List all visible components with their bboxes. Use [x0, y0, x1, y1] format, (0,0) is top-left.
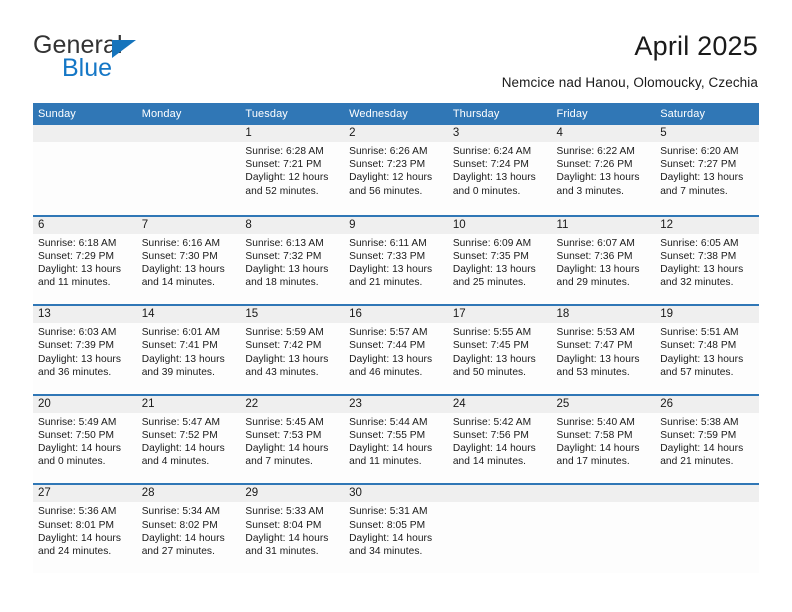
- daylight-text: Daylight: 13 hours and 14 minutes.: [142, 263, 236, 289]
- weekday-header-wednesday: Wednesday: [344, 103, 448, 125]
- sunrise-text: Sunrise: 5:38 AM: [660, 416, 754, 429]
- day-sun-info: Sunrise: 6:07 AMSunset: 7:36 PMDaylight:…: [552, 234, 656, 290]
- day-number-band: [448, 485, 552, 502]
- calendar-day-cell[interactable]: 14Sunrise: 6:01 AMSunset: 7:41 PMDayligh…: [137, 306, 241, 394]
- day-number: 23: [344, 396, 448, 413]
- day-sun-info: Sunrise: 6:16 AMSunset: 7:30 PMDaylight:…: [137, 234, 241, 290]
- sunrise-text: Sunrise: 5:42 AM: [453, 416, 547, 429]
- sunrise-text: Sunrise: 6:05 AM: [660, 237, 754, 250]
- day-number-band: 18: [552, 306, 656, 323]
- sunset-text: Sunset: 8:02 PM: [142, 519, 236, 532]
- weekday-header-saturday: Saturday: [655, 103, 759, 125]
- calendar-day-cell[interactable]: 17Sunrise: 5:55 AMSunset: 7:45 PMDayligh…: [448, 306, 552, 394]
- daylight-text: Daylight: 14 hours and 24 minutes.: [38, 532, 132, 558]
- daylight-text: Daylight: 14 hours and 27 minutes.: [142, 532, 236, 558]
- sunset-text: Sunset: 7:55 PM: [349, 429, 443, 442]
- day-sun-info: Sunrise: 5:42 AMSunset: 7:56 PMDaylight:…: [448, 413, 552, 469]
- day-sun-info: Sunrise: 6:28 AMSunset: 7:21 PMDaylight:…: [240, 142, 344, 198]
- calendar-page: General Blue April 2025 Nemcice nad Hano…: [0, 0, 792, 612]
- weekday-header-row: Sunday Monday Tuesday Wednesday Thursday…: [33, 103, 759, 125]
- day-sun-info: Sunrise: 5:34 AMSunset: 8:02 PMDaylight:…: [137, 502, 241, 558]
- page-title: April 2025: [502, 30, 758, 62]
- day-sun-info: Sunrise: 5:31 AMSunset: 8:05 PMDaylight:…: [344, 502, 448, 558]
- day-number: 13: [33, 306, 137, 323]
- daylight-text: Daylight: 14 hours and 14 minutes.: [453, 442, 547, 468]
- day-number-band: 7: [137, 217, 241, 234]
- daylight-text: Daylight: 14 hours and 31 minutes.: [245, 532, 339, 558]
- sunrise-text: Sunrise: 6:28 AM: [245, 145, 339, 158]
- day-number: 19: [655, 306, 759, 323]
- daylight-text: Daylight: 14 hours and 34 minutes.: [349, 532, 443, 558]
- weekday-header-tuesday: Tuesday: [240, 103, 344, 125]
- calendar-day-cell[interactable]: 8Sunrise: 6:13 AMSunset: 7:32 PMDaylight…: [240, 217, 344, 305]
- day-number-band: 8: [240, 217, 344, 234]
- day-number-band: 30: [344, 485, 448, 502]
- day-sun-info: Sunrise: 6:13 AMSunset: 7:32 PMDaylight:…: [240, 234, 344, 290]
- sunrise-text: Sunrise: 6:18 AM: [38, 237, 132, 250]
- general-blue-logo[interactable]: General Blue: [33, 32, 263, 84]
- daylight-text: Daylight: 14 hours and 21 minutes.: [660, 442, 754, 468]
- title-block: April 2025 Nemcice nad Hanou, Olomoucky,…: [502, 30, 758, 92]
- daylight-text: Daylight: 14 hours and 7 minutes.: [245, 442, 339, 468]
- sunrise-text: Sunrise: 6:22 AM: [557, 145, 651, 158]
- sunrise-text: Sunrise: 5:53 AM: [557, 326, 651, 339]
- day-sun-info: Sunrise: 6:01 AMSunset: 7:41 PMDaylight:…: [137, 323, 241, 379]
- day-number: 29: [240, 485, 344, 502]
- day-number: 17: [448, 306, 552, 323]
- sunrise-text: Sunrise: 6:09 AM: [453, 237, 547, 250]
- calendar-day-cell[interactable]: 7Sunrise: 6:16 AMSunset: 7:30 PMDaylight…: [137, 217, 241, 305]
- daylight-text: Daylight: 14 hours and 17 minutes.: [557, 442, 651, 468]
- day-number-band: 1: [240, 125, 344, 142]
- daylight-text: Daylight: 13 hours and 43 minutes.: [245, 353, 339, 379]
- calendar-day-cell[interactable]: 30Sunrise: 5:31 AMSunset: 8:05 PMDayligh…: [344, 485, 448, 573]
- daylight-text: Daylight: 13 hours and 50 minutes.: [453, 353, 547, 379]
- day-number: 15: [240, 306, 344, 323]
- sunset-text: Sunset: 7:38 PM: [660, 250, 754, 263]
- day-number-band: 26: [655, 396, 759, 413]
- day-number: 2: [344, 125, 448, 142]
- calendar-day-cell[interactable]: 25Sunrise: 5:40 AMSunset: 7:58 PMDayligh…: [552, 396, 656, 484]
- day-number-band: 2: [344, 125, 448, 142]
- day-number: 4: [552, 125, 656, 142]
- daylight-text: Daylight: 13 hours and 39 minutes.: [142, 353, 236, 379]
- daylight-text: Daylight: 13 hours and 53 minutes.: [557, 353, 651, 379]
- triangle-flag-icon: [112, 40, 136, 58]
- day-number-band: 13: [33, 306, 137, 323]
- day-number: 30: [344, 485, 448, 502]
- calendar-weeks: 1Sunrise: 6:28 AMSunset: 7:21 PMDaylight…: [33, 125, 759, 573]
- daylight-text: Daylight: 12 hours and 52 minutes.: [245, 171, 339, 197]
- weekday-header-thursday: Thursday: [448, 103, 552, 125]
- day-number: 5: [655, 125, 759, 142]
- day-number: 3: [448, 125, 552, 142]
- sunrise-text: Sunrise: 5:31 AM: [349, 505, 443, 518]
- day-number: 12: [655, 217, 759, 234]
- day-number-band: 23: [344, 396, 448, 413]
- sunset-text: Sunset: 7:56 PM: [453, 429, 547, 442]
- daylight-text: Daylight: 14 hours and 11 minutes.: [349, 442, 443, 468]
- day-number: 18: [552, 306, 656, 323]
- calendar-day-cell-empty: [655, 485, 759, 573]
- sunset-text: Sunset: 7:24 PM: [453, 158, 547, 171]
- daylight-text: Daylight: 13 hours and 29 minutes.: [557, 263, 651, 289]
- daylight-text: Daylight: 14 hours and 4 minutes.: [142, 442, 236, 468]
- daylight-text: Daylight: 13 hours and 18 minutes.: [245, 263, 339, 289]
- weekday-header-friday: Friday: [552, 103, 656, 125]
- sunrise-text: Sunrise: 6:16 AM: [142, 237, 236, 250]
- calendar-day-cell[interactable]: 19Sunrise: 5:51 AMSunset: 7:48 PMDayligh…: [655, 306, 759, 394]
- sunrise-text: Sunrise: 6:20 AM: [660, 145, 754, 158]
- day-number: 7: [137, 217, 241, 234]
- sunrise-text: Sunrise: 6:13 AM: [245, 237, 339, 250]
- sunrise-text: Sunrise: 5:36 AM: [38, 505, 132, 518]
- day-number: 22: [240, 396, 344, 413]
- calendar-day-cell-empty: [552, 485, 656, 573]
- calendar-day-cell[interactable]: 18Sunrise: 5:53 AMSunset: 7:47 PMDayligh…: [552, 306, 656, 394]
- calendar-day-cell[interactable]: 2Sunrise: 6:26 AMSunset: 7:23 PMDaylight…: [344, 125, 448, 215]
- calendar-day-cell-empty: [448, 485, 552, 573]
- sunset-text: Sunset: 7:29 PM: [38, 250, 132, 263]
- day-number-band: [33, 125, 137, 142]
- sunset-text: Sunset: 7:45 PM: [453, 339, 547, 352]
- day-number: 11: [552, 217, 656, 234]
- calendar-day-cell-empty: [137, 125, 241, 215]
- day-number-band: 14: [137, 306, 241, 323]
- day-number: 16: [344, 306, 448, 323]
- sunset-text: Sunset: 7:33 PM: [349, 250, 443, 263]
- day-number: 14: [137, 306, 241, 323]
- sunset-text: Sunset: 7:41 PM: [142, 339, 236, 352]
- sunrise-text: Sunrise: 6:03 AM: [38, 326, 132, 339]
- sunset-text: Sunset: 7:21 PM: [245, 158, 339, 171]
- day-sun-info: Sunrise: 6:26 AMSunset: 7:23 PMDaylight:…: [344, 142, 448, 198]
- day-sun-info: Sunrise: 6:05 AMSunset: 7:38 PMDaylight:…: [655, 234, 759, 290]
- calendar-week-row: 27Sunrise: 5:36 AMSunset: 8:01 PMDayligh…: [33, 483, 759, 573]
- sunset-text: Sunset: 7:39 PM: [38, 339, 132, 352]
- daylight-text: Daylight: 13 hours and 46 minutes.: [349, 353, 443, 379]
- daylight-text: Daylight: 13 hours and 25 minutes.: [453, 263, 547, 289]
- calendar-day-cell[interactable]: 29Sunrise: 5:33 AMSunset: 8:04 PMDayligh…: [240, 485, 344, 573]
- sunset-text: Sunset: 8:01 PM: [38, 519, 132, 532]
- sunrise-text: Sunrise: 6:07 AM: [557, 237, 651, 250]
- sunrise-text: Sunrise: 5:55 AM: [453, 326, 547, 339]
- sunset-text: Sunset: 7:53 PM: [245, 429, 339, 442]
- day-number-band: 17: [448, 306, 552, 323]
- calendar-day-cell[interactable]: 22Sunrise: 5:45 AMSunset: 7:53 PMDayligh…: [240, 396, 344, 484]
- calendar-day-cell[interactable]: 23Sunrise: 5:44 AMSunset: 7:55 PMDayligh…: [344, 396, 448, 484]
- weekday-header-monday: Monday: [137, 103, 241, 125]
- location-subtitle: Nemcice nad Hanou, Olomoucky, Czechia: [502, 74, 758, 92]
- daylight-text: Daylight: 13 hours and 0 minutes.: [453, 171, 547, 197]
- sunset-text: Sunset: 7:42 PM: [245, 339, 339, 352]
- day-number: 20: [33, 396, 137, 413]
- day-sun-info: Sunrise: 5:40 AMSunset: 7:58 PMDaylight:…: [552, 413, 656, 469]
- sunset-text: Sunset: 7:44 PM: [349, 339, 443, 352]
- daylight-text: Daylight: 13 hours and 7 minutes.: [660, 171, 754, 197]
- sunset-text: Sunset: 7:47 PM: [557, 339, 651, 352]
- day-number-band: 28: [137, 485, 241, 502]
- sunrise-text: Sunrise: 5:49 AM: [38, 416, 132, 429]
- day-sun-info: Sunrise: 6:03 AMSunset: 7:39 PMDaylight:…: [33, 323, 137, 379]
- day-number-band: [137, 125, 241, 142]
- day-number: 27: [33, 485, 137, 502]
- sunset-text: Sunset: 7:30 PM: [142, 250, 236, 263]
- sunset-text: Sunset: 7:52 PM: [142, 429, 236, 442]
- calendar-day-cell[interactable]: 6Sunrise: 6:18 AMSunset: 7:29 PMDaylight…: [33, 217, 137, 305]
- day-sun-info: Sunrise: 5:51 AMSunset: 7:48 PMDaylight:…: [655, 323, 759, 379]
- sunrise-text: Sunrise: 5:34 AM: [142, 505, 236, 518]
- sunset-text: Sunset: 7:35 PM: [453, 250, 547, 263]
- day-number: 6: [33, 217, 137, 234]
- day-number-band: 24: [448, 396, 552, 413]
- calendar-day-cell[interactable]: 13Sunrise: 6:03 AMSunset: 7:39 PMDayligh…: [33, 306, 137, 394]
- sunset-text: Sunset: 7:48 PM: [660, 339, 754, 352]
- sunrise-text: Sunrise: 5:40 AM: [557, 416, 651, 429]
- day-number: 1: [240, 125, 344, 142]
- day-number: 8: [240, 217, 344, 234]
- day-sun-info: Sunrise: 6:18 AMSunset: 7:29 PMDaylight:…: [33, 234, 137, 290]
- calendar-day-cell[interactable]: 11Sunrise: 6:07 AMSunset: 7:36 PMDayligh…: [552, 217, 656, 305]
- day-sun-info: Sunrise: 6:22 AMSunset: 7:26 PMDaylight:…: [552, 142, 656, 198]
- calendar-day-cell[interactable]: 10Sunrise: 6:09 AMSunset: 7:35 PMDayligh…: [448, 217, 552, 305]
- sunrise-text: Sunrise: 6:24 AM: [453, 145, 547, 158]
- calendar-day-cell[interactable]: 4Sunrise: 6:22 AMSunset: 7:26 PMDaylight…: [552, 125, 656, 215]
- day-sun-info: Sunrise: 6:20 AMSunset: 7:27 PMDaylight:…: [655, 142, 759, 198]
- calendar-day-cell[interactable]: 12Sunrise: 6:05 AMSunset: 7:38 PMDayligh…: [655, 217, 759, 305]
- calendar-day-cell[interactable]: 26Sunrise: 5:38 AMSunset: 7:59 PMDayligh…: [655, 396, 759, 484]
- sunset-text: Sunset: 7:32 PM: [245, 250, 339, 263]
- day-sun-info: Sunrise: 5:59 AMSunset: 7:42 PMDaylight:…: [240, 323, 344, 379]
- sunset-text: Sunset: 8:04 PM: [245, 519, 339, 532]
- sunrise-text: Sunrise: 6:26 AM: [349, 145, 443, 158]
- calendar-week-row: 20Sunrise: 5:49 AMSunset: 7:50 PMDayligh…: [33, 394, 759, 484]
- day-number-band: 15: [240, 306, 344, 323]
- day-number-band: 10: [448, 217, 552, 234]
- sunrise-text: Sunrise: 5:51 AM: [660, 326, 754, 339]
- daylight-text: Daylight: 13 hours and 57 minutes.: [660, 353, 754, 379]
- sunset-text: Sunset: 7:26 PM: [557, 158, 651, 171]
- calendar-day-cell-empty: [33, 125, 137, 215]
- day-number-band: 4: [552, 125, 656, 142]
- day-number-band: 20: [33, 396, 137, 413]
- calendar-week-row: 13Sunrise: 6:03 AMSunset: 7:39 PMDayligh…: [33, 304, 759, 394]
- day-sun-info: Sunrise: 5:45 AMSunset: 7:53 PMDaylight:…: [240, 413, 344, 469]
- day-number: 28: [137, 485, 241, 502]
- calendar-day-cell[interactable]: 1Sunrise: 6:28 AMSunset: 7:21 PMDaylight…: [240, 125, 344, 215]
- daylight-text: Daylight: 13 hours and 32 minutes.: [660, 263, 754, 289]
- day-number-band: 29: [240, 485, 344, 502]
- day-sun-info: Sunrise: 6:11 AMSunset: 7:33 PMDaylight:…: [344, 234, 448, 290]
- day-number-band: 25: [552, 396, 656, 413]
- day-sun-info: Sunrise: 6:09 AMSunset: 7:35 PMDaylight:…: [448, 234, 552, 290]
- daylight-text: Daylight: 13 hours and 36 minutes.: [38, 353, 132, 379]
- sunset-text: Sunset: 7:23 PM: [349, 158, 443, 171]
- day-number-band: 21: [137, 396, 241, 413]
- day-sun-info: Sunrise: 6:24 AMSunset: 7:24 PMDaylight:…: [448, 142, 552, 198]
- calendar-day-cell[interactable]: 21Sunrise: 5:47 AMSunset: 7:52 PMDayligh…: [137, 396, 241, 484]
- weekday-header-sunday: Sunday: [33, 103, 137, 125]
- calendar-day-cell[interactable]: 20Sunrise: 5:49 AMSunset: 7:50 PMDayligh…: [33, 396, 137, 484]
- day-number-band: 11: [552, 217, 656, 234]
- day-number-band: [655, 485, 759, 502]
- day-number: 26: [655, 396, 759, 413]
- day-sun-info: Sunrise: 5:49 AMSunset: 7:50 PMDaylight:…: [33, 413, 137, 469]
- day-number-band: 5: [655, 125, 759, 142]
- day-number-band: 22: [240, 396, 344, 413]
- sunset-text: Sunset: 7:59 PM: [660, 429, 754, 442]
- daylight-text: Daylight: 12 hours and 56 minutes.: [349, 171, 443, 197]
- sunrise-text: Sunrise: 5:59 AM: [245, 326, 339, 339]
- daylight-text: Daylight: 14 hours and 0 minutes.: [38, 442, 132, 468]
- calendar-day-cell[interactable]: 9Sunrise: 6:11 AMSunset: 7:33 PMDaylight…: [344, 217, 448, 305]
- sunrise-text: Sunrise: 5:57 AM: [349, 326, 443, 339]
- calendar-day-cell[interactable]: 27Sunrise: 5:36 AMSunset: 8:01 PMDayligh…: [33, 485, 137, 573]
- day-number-band: [552, 485, 656, 502]
- day-sun-info: Sunrise: 5:53 AMSunset: 7:47 PMDaylight:…: [552, 323, 656, 379]
- day-sun-info: Sunrise: 5:36 AMSunset: 8:01 PMDaylight:…: [33, 502, 137, 558]
- day-sun-info: Sunrise: 5:47 AMSunset: 7:52 PMDaylight:…: [137, 413, 241, 469]
- sunset-text: Sunset: 7:58 PM: [557, 429, 651, 442]
- day-sun-info: Sunrise: 5:33 AMSunset: 8:04 PMDaylight:…: [240, 502, 344, 558]
- sunrise-text: Sunrise: 6:01 AM: [142, 326, 236, 339]
- sunrise-text: Sunrise: 5:47 AM: [142, 416, 236, 429]
- calendar-day-cell[interactable]: 16Sunrise: 5:57 AMSunset: 7:44 PMDayligh…: [344, 306, 448, 394]
- calendar-week-row: 6Sunrise: 6:18 AMSunset: 7:29 PMDaylight…: [33, 215, 759, 305]
- sunset-text: Sunset: 7:27 PM: [660, 158, 754, 171]
- daylight-text: Daylight: 13 hours and 21 minutes.: [349, 263, 443, 289]
- calendar-day-cell[interactable]: 24Sunrise: 5:42 AMSunset: 7:56 PMDayligh…: [448, 396, 552, 484]
- day-number-band: 6: [33, 217, 137, 234]
- day-sun-info: Sunrise: 5:38 AMSunset: 7:59 PMDaylight:…: [655, 413, 759, 469]
- day-number-band: 27: [33, 485, 137, 502]
- day-number-band: 19: [655, 306, 759, 323]
- daylight-text: Daylight: 13 hours and 11 minutes.: [38, 263, 132, 289]
- day-number: 25: [552, 396, 656, 413]
- calendar-week-row: 1Sunrise: 6:28 AMSunset: 7:21 PMDaylight…: [33, 125, 759, 215]
- calendar-grid: Sunday Monday Tuesday Wednesday Thursday…: [33, 103, 759, 573]
- page-header: General Blue April 2025 Nemcice nad Hano…: [0, 0, 792, 100]
- calendar-day-cell[interactable]: 5Sunrise: 6:20 AMSunset: 7:27 PMDaylight…: [655, 125, 759, 215]
- sunrise-text: Sunrise: 6:11 AM: [349, 237, 443, 250]
- day-number-band: 9: [344, 217, 448, 234]
- daylight-text: Daylight: 13 hours and 3 minutes.: [557, 171, 651, 197]
- sunset-text: Sunset: 7:36 PM: [557, 250, 651, 263]
- sunrise-text: Sunrise: 5:45 AM: [245, 416, 339, 429]
- sunrise-text: Sunrise: 5:44 AM: [349, 416, 443, 429]
- day-sun-info: Sunrise: 5:55 AMSunset: 7:45 PMDaylight:…: [448, 323, 552, 379]
- day-number-band: 16: [344, 306, 448, 323]
- day-number-band: 12: [655, 217, 759, 234]
- day-sun-info: Sunrise: 5:57 AMSunset: 7:44 PMDaylight:…: [344, 323, 448, 379]
- day-number: 21: [137, 396, 241, 413]
- sunset-text: Sunset: 8:05 PM: [349, 519, 443, 532]
- sunset-text: Sunset: 7:50 PM: [38, 429, 132, 442]
- calendar-day-cell[interactable]: 28Sunrise: 5:34 AMSunset: 8:02 PMDayligh…: [137, 485, 241, 573]
- day-number-band: 3: [448, 125, 552, 142]
- calendar-day-cell[interactable]: 15Sunrise: 5:59 AMSunset: 7:42 PMDayligh…: [240, 306, 344, 394]
- logo-text-blue: Blue: [62, 55, 112, 81]
- day-sun-info: Sunrise: 5:44 AMSunset: 7:55 PMDaylight:…: [344, 413, 448, 469]
- sunrise-text: Sunrise: 5:33 AM: [245, 505, 339, 518]
- day-number: 24: [448, 396, 552, 413]
- calendar-day-cell[interactable]: 3Sunrise: 6:24 AMSunset: 7:24 PMDaylight…: [448, 125, 552, 215]
- day-number: 9: [344, 217, 448, 234]
- day-number: 10: [448, 217, 552, 234]
